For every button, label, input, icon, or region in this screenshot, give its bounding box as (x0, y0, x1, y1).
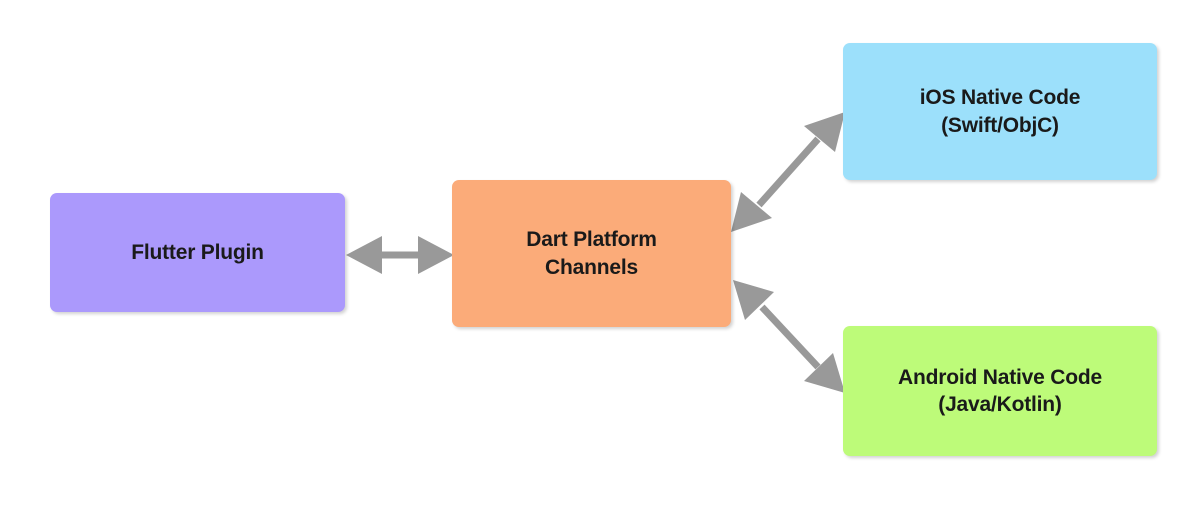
arrow-head-left (346, 236, 382, 274)
arrow-head-down-right (804, 353, 845, 393)
arrow-head-down-left (731, 192, 772, 232)
node-ios-native-code-label: iOS Native Code (Swift/ObjC) (910, 84, 1090, 139)
edge-plugin-to-channels (346, 236, 454, 274)
edge-channels-to-ios (731, 112, 845, 232)
edge-channels-to-android (733, 280, 845, 393)
arrow-head-up-right (804, 112, 845, 152)
arrow-head-right (418, 236, 454, 274)
arrow-head-up-left (733, 280, 774, 320)
diagram-canvas: Flutter Plugin Dart Platform Channels iO… (0, 0, 1200, 510)
node-ios-native-code[interactable]: iOS Native Code (Swift/ObjC) (843, 43, 1157, 180)
node-dart-platform-channels[interactable]: Dart Platform Channels (452, 180, 731, 327)
node-android-native-code[interactable]: Android Native Code (Java/Kotlin) (843, 326, 1157, 456)
node-flutter-plugin[interactable]: Flutter Plugin (50, 193, 345, 312)
node-dart-platform-channels-label: Dart Platform Channels (516, 226, 666, 281)
node-flutter-plugin-label: Flutter Plugin (121, 239, 274, 266)
node-android-native-code-label: Android Native Code (Java/Kotlin) (888, 364, 1112, 419)
